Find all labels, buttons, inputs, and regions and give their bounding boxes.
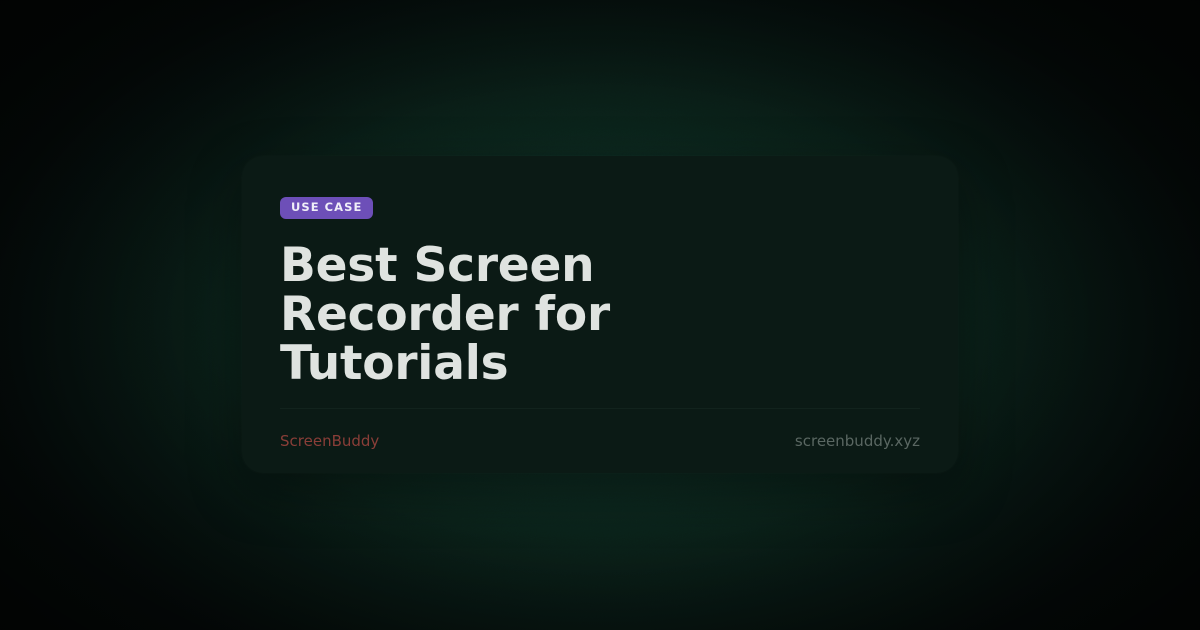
status-badge: USE CASE xyxy=(280,197,373,220)
card-footer: ScreenBuddy screenbuddy.xyz xyxy=(280,408,920,473)
page-title: Best Screen Recorder for Tutorials xyxy=(280,241,820,388)
og-image-canvas: USE CASE Best Screen Recorder for Tutori… xyxy=(0,0,1200,630)
brand-name: ScreenBuddy xyxy=(280,434,379,449)
content-card: USE CASE Best Screen Recorder for Tutori… xyxy=(242,156,958,473)
site-url: screenbuddy.xyz xyxy=(795,434,920,449)
